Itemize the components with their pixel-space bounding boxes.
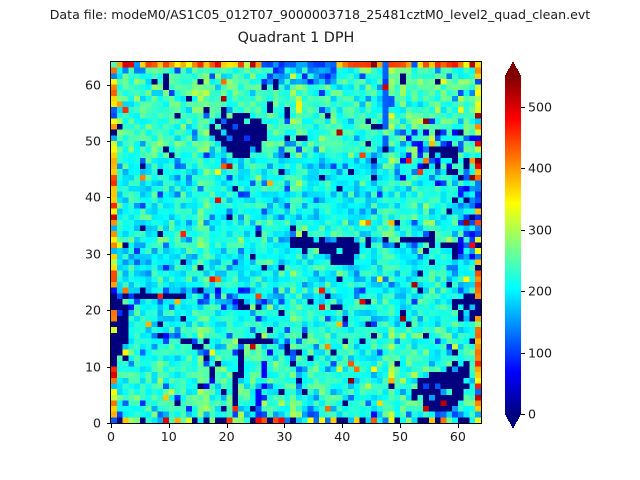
x-tick-mark xyxy=(169,424,170,428)
x-tick-mark xyxy=(227,424,228,428)
colorbar xyxy=(505,62,521,428)
x-tick-mark xyxy=(400,424,401,428)
y-tick-label: 0 xyxy=(101,416,109,431)
dph-heatmap-image xyxy=(111,62,481,423)
colorbar-tick-mark xyxy=(521,107,525,108)
colorbar-tick-mark xyxy=(521,291,525,292)
x-tick-label: 40 xyxy=(334,429,350,444)
colorbar-tick-mark xyxy=(521,168,525,169)
colorbar-tick-label: 200 xyxy=(528,284,552,299)
heatmap-axes xyxy=(110,61,482,424)
data-file-label: Data file: modeM0/AS1C05_012T07_90000037… xyxy=(0,7,640,22)
x-tick-label: 60 xyxy=(450,429,466,444)
y-tick-label: 50 xyxy=(101,133,117,148)
x-tick-mark xyxy=(284,424,285,428)
colorbar-tick-label: 0 xyxy=(528,407,536,422)
x-tick-label: 20 xyxy=(219,429,235,444)
colorbar-tick-label: 500 xyxy=(528,99,552,114)
matplotlib-figure: Data file: modeM0/AS1C05_012T07_90000037… xyxy=(0,0,640,480)
colorbar-tick-label: 100 xyxy=(528,345,552,360)
colorbar-tick-mark xyxy=(521,230,525,231)
colorbar-tick-mark xyxy=(521,353,525,354)
x-tick-mark xyxy=(111,424,112,428)
x-tick-label: 50 xyxy=(392,429,408,444)
y-tick-label: 20 xyxy=(101,303,117,318)
y-tick-label: 60 xyxy=(101,77,117,92)
y-tick-label: 30 xyxy=(101,246,117,261)
colorbar-tick-label: 400 xyxy=(528,161,552,176)
x-tick-label: 0 xyxy=(107,429,115,444)
y-tick-label: 10 xyxy=(101,359,117,374)
x-tick-mark xyxy=(342,424,343,428)
x-tick-label: 10 xyxy=(161,429,177,444)
page-title: Quadrant 1 DPH xyxy=(0,30,592,46)
y-tick-label: 40 xyxy=(101,190,117,205)
x-tick-label: 30 xyxy=(276,429,292,444)
x-tick-mark xyxy=(458,424,459,428)
colorbar-tick-mark xyxy=(521,414,525,415)
colorbar-tick-label: 300 xyxy=(528,222,552,237)
colorbar-gradient xyxy=(505,62,521,428)
